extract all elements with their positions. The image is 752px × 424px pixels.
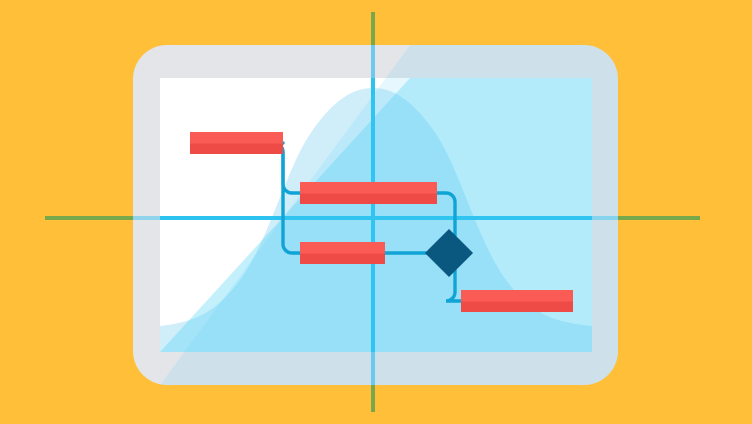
- illustration-stage: [0, 0, 752, 424]
- task-bar-3[interactable]: [300, 242, 385, 264]
- task-bar-2[interactable]: [300, 182, 437, 204]
- illustration-canvas: [0, 0, 752, 424]
- task-bar-1[interactable]: [190, 132, 283, 154]
- task-bar-4[interactable]: [461, 290, 573, 312]
